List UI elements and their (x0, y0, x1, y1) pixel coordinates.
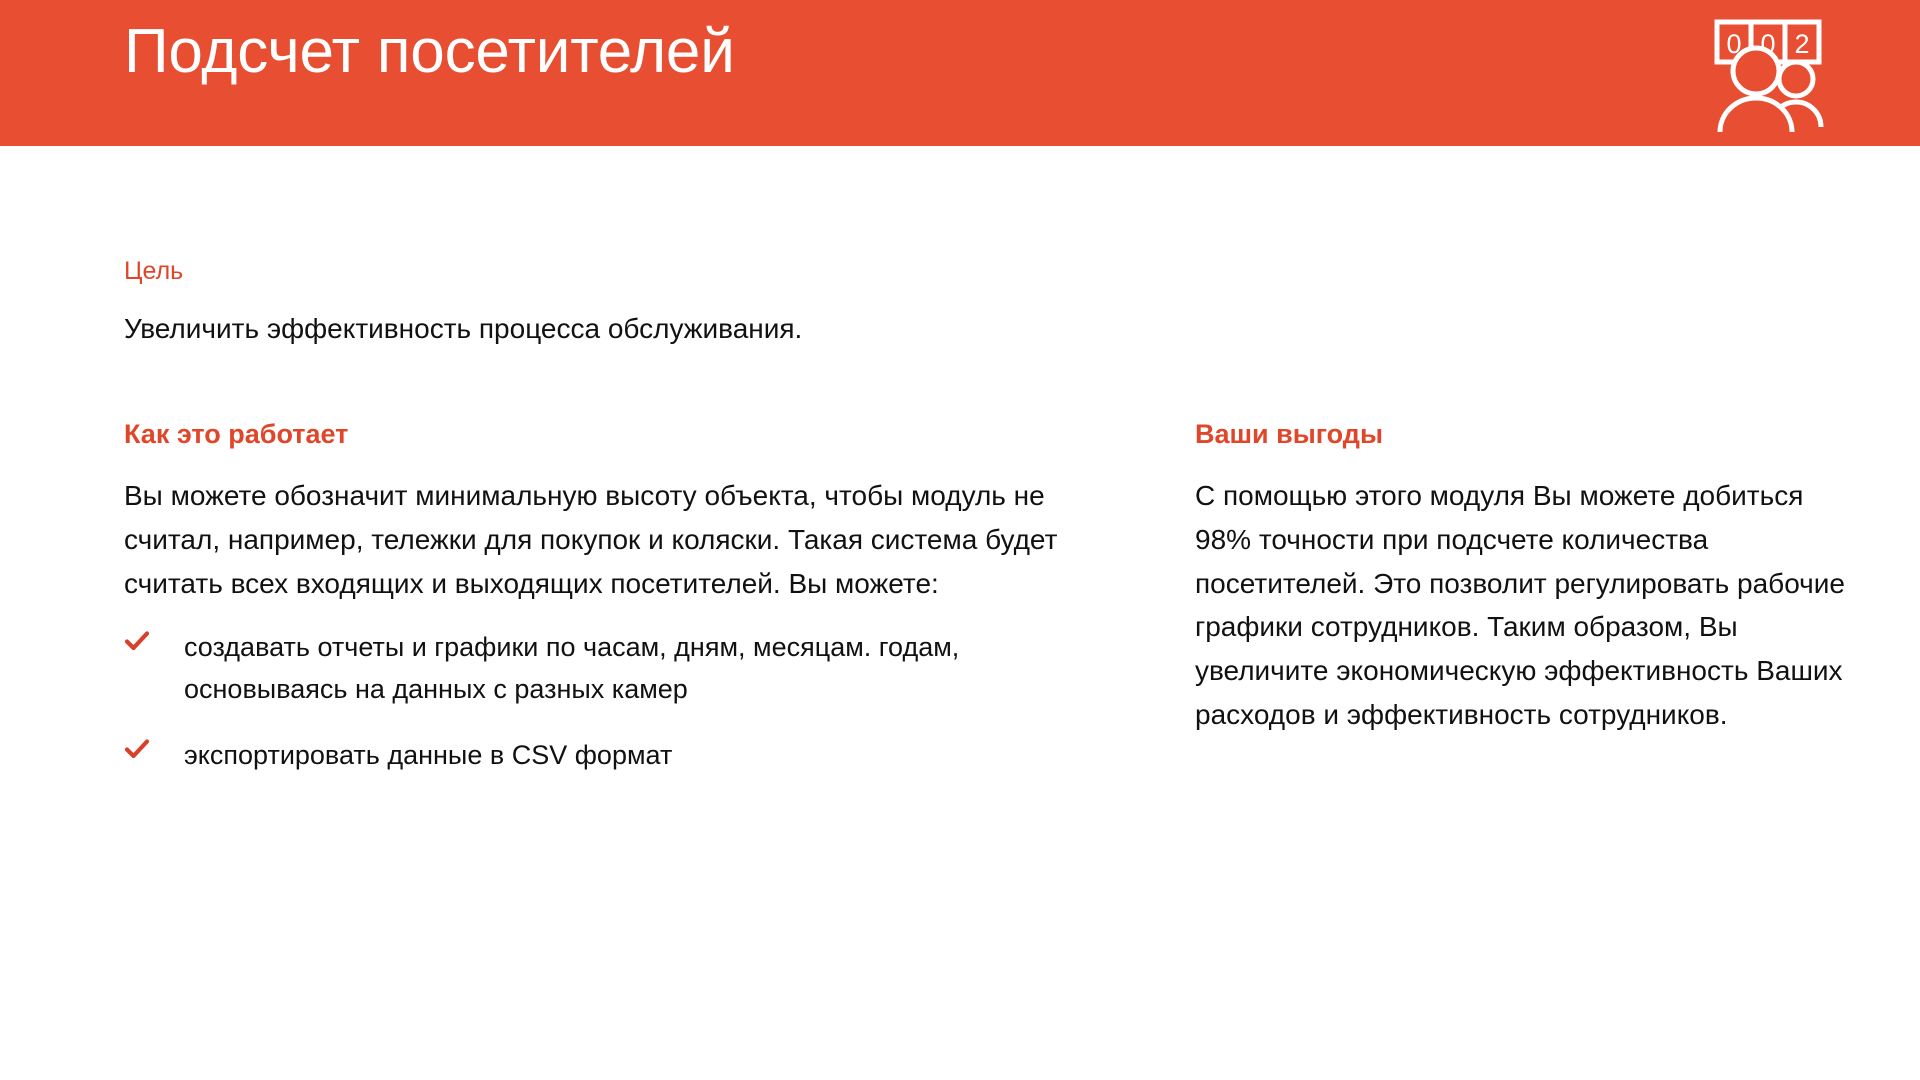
slide-header-band: Подсчет посетителей 0 0 2 (0, 0, 1920, 146)
list-item-label: экспортировать данные в CSV формат (184, 740, 672, 770)
goal-text: Увеличить эффективность процесса обслужи… (124, 286, 1324, 348)
presentation-slide: Подсчет посетителей 0 0 2 (0, 0, 1920, 1080)
check-icon (124, 736, 150, 762)
slide-body: Цель Увеличить эффективность процесса об… (0, 146, 1920, 1080)
goal-heading: Цель (124, 256, 1324, 286)
people-counter-icon: 0 0 2 (1704, 14, 1832, 132)
svg-text:2: 2 (1794, 29, 1809, 59)
benefits-paragraph: С помощью этого модуля Вы можете добитьс… (1195, 450, 1855, 736)
how-it-works-section: Как это работает Вы можете обозначит мин… (124, 418, 1084, 777)
benefits-heading: Ваши выгоды (1195, 418, 1855, 450)
benefits-section: Ваши выгоды С помощью этого модуля Вы мо… (1195, 418, 1855, 736)
page-title: Подсчет посетителей (124, 16, 735, 87)
goal-section: Цель Увеличить эффективность процесса об… (124, 256, 1324, 348)
list-item-label: создавать отчеты и графики по часам, дня… (184, 632, 959, 704)
check-icon (124, 628, 150, 654)
list-item: создавать отчеты и графики по часам, дня… (124, 627, 1084, 711)
list-item: экспортировать данные в CSV формат (124, 735, 1084, 777)
how-it-works-bullet-list: создавать отчеты и графики по часам, дня… (124, 605, 1084, 777)
how-it-works-paragraph: Вы можете обозначит минимальную высоту о… (124, 450, 1084, 605)
how-it-works-heading: Как это работает (124, 418, 1084, 450)
